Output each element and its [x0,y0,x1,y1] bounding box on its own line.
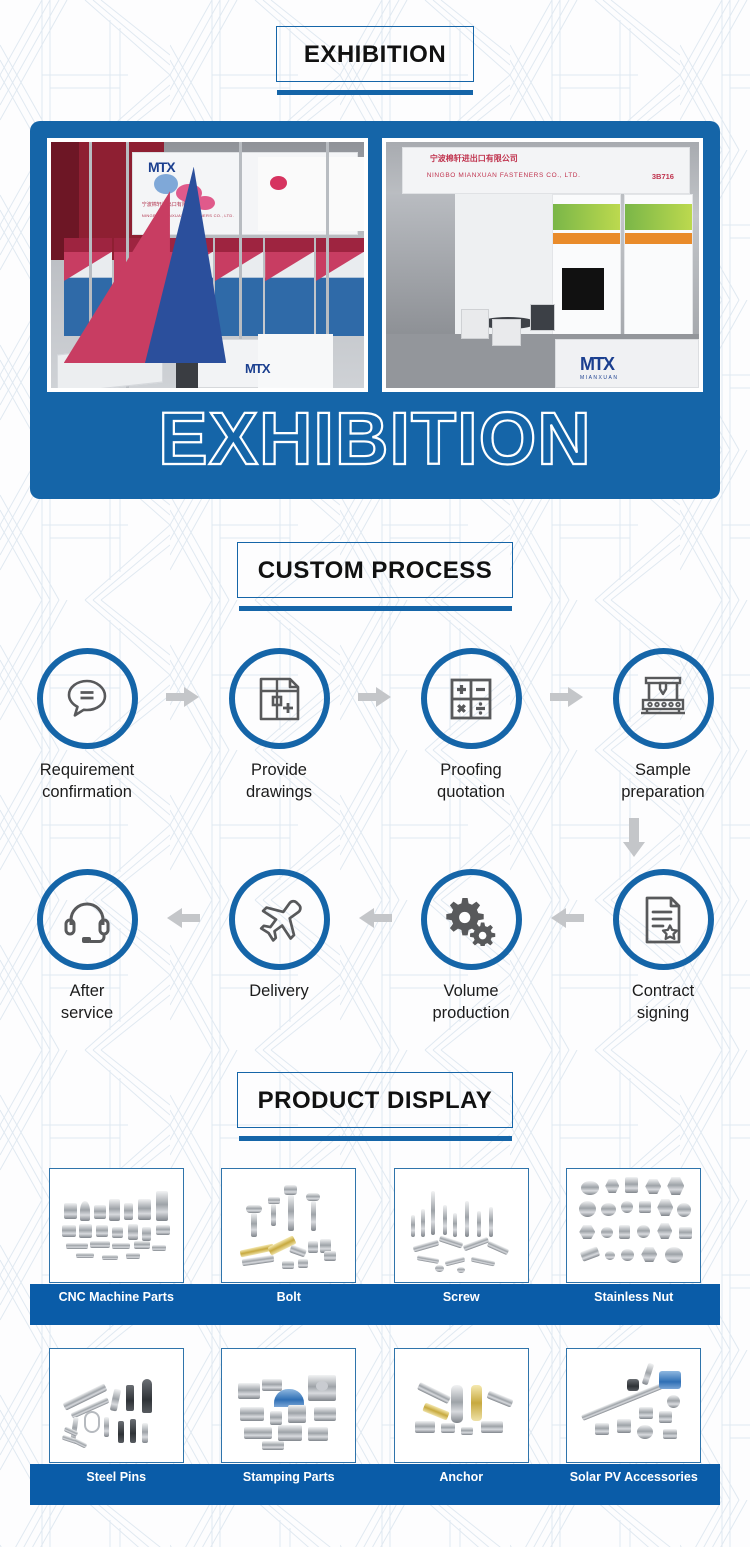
process-label-line2: service [61,1003,113,1025]
gears-icon [443,894,499,946]
photo1-counter-logo: MTX [245,361,269,376]
process-step-circle [37,869,138,970]
custom-process-title-text: CUSTOM PROCESS [258,557,493,585]
process-step-circle [421,648,522,749]
process-label-line1: Requirement [40,760,134,782]
process-step-label: Delivery [249,981,309,1003]
process-step-label: After service [61,981,113,1025]
exhibition-title-box: EXHIBITION [276,26,474,82]
product-label: Stamping Parts [243,1470,335,1484]
process-step-provide-drawings[interactable]: Provide drawings [205,648,353,804]
product-display-title-text: PRODUCT DISPLAY [258,1087,493,1115]
process-flow-row-2: After service Delivery [0,869,750,1025]
product-label: Anchor [439,1470,483,1484]
process-label-line2: confirmation [40,782,134,804]
custom-process-title-box: CUSTOM PROCESS [237,542,513,598]
product-display-title-underline [239,1136,512,1141]
process-label-line2: signing [632,1003,694,1025]
photo2-counter-logo-sub: MIANXUAN [580,375,618,381]
product-label: Screw [443,1290,480,1304]
product-card-screw[interactable]: Screw [375,1168,548,1304]
process-label-line2: preparation [621,782,704,804]
process-arrow-right-2 [353,686,397,708]
product-image [566,1168,701,1283]
product-label: CNC Machine Parts [59,1290,174,1304]
process-step-circle [613,869,714,970]
product-label: Stainless Nut [594,1290,673,1304]
exhibition-photo-2[interactable]: MTX MIANXUAN 宁波棉轩进出口有限公司 NINGBO MIANXUAN… [382,138,703,392]
process-step-circle [613,648,714,749]
product-label: Bolt [277,1290,301,1304]
process-arrow-right-3 [545,686,589,708]
product-card-cnc-machine-parts[interactable]: CNC Machine Parts [30,1168,203,1304]
product-image [394,1168,529,1283]
process-step-circle [421,869,522,970]
process-label-line2: drawings [246,782,312,804]
process-label-line2: production [432,1003,509,1025]
process-step-requirement-confirmation[interactable]: Requirement confirmation [13,648,161,804]
product-detail-page: EXHIBITION MTX 宁波棉轩进出口有限公司 [0,0,750,1547]
process-step-sample-preparation[interactable]: Sample preparation [589,648,737,804]
exhibition-photo-row: MTX 宁波棉轩进出口有限公司 NINGBO MIANXUAN FASTENER… [47,138,703,392]
exhibition-title-underline [277,90,473,95]
photo2-booth-number: 3B716 [652,172,674,181]
process-label-line2: quotation [437,782,505,804]
process-step-label: Contract signing [632,981,694,1025]
process-arrow-left-2 [353,907,397,929]
product-grid-row-1: CNC Machine Parts [30,1168,720,1304]
process-arrow-left-1 [161,907,205,929]
photo2-banner-cn: 宁波棉轩进出口有限公司 [430,153,518,164]
product-image [221,1168,356,1283]
product-image [566,1348,701,1463]
process-label-line1: Volume [432,981,509,1003]
process-step-label: Requirement confirmation [40,760,134,804]
product-image [221,1348,356,1463]
product-card-bolt[interactable]: Bolt [203,1168,376,1304]
process-label-line1: Contract [632,981,694,1003]
photo2-banner-en: NINGBO MIANXUAN FASTENERS CO., LTD. [427,172,581,179]
process-label-line1: Proofing [437,760,505,782]
exhibition-banner-word: EXHIBITION [30,402,720,476]
certificate-icon [639,893,687,947]
product-image [49,1348,184,1463]
exhibition-photo-1[interactable]: MTX 宁波棉轩进出口有限公司 NINGBO MIANXUAN FASTENER… [47,138,368,392]
photo1-logo: MTX [148,159,175,175]
process-arrow-right-1 [161,686,205,708]
chat-bubble-icon [59,671,115,727]
exhibition-section-header: EXHIBITION [0,26,750,95]
product-display-section-header: PRODUCT DISPLAY [0,1072,750,1141]
process-step-delivery[interactable]: Delivery [205,869,353,1003]
airplane-icon [252,893,306,947]
custom-process-section-header: CUSTOM PROCESS [0,542,750,611]
drawing-document-icon [252,672,306,726]
process-step-after-service[interactable]: After service [13,869,161,1025]
exhibition-title-text: EXHIBITION [304,41,446,69]
process-step-label: Proofing quotation [437,760,505,804]
product-card-steel-pins[interactable]: Steel Pins [30,1348,203,1484]
process-step-circle [229,648,330,749]
product-card-stainless-nut[interactable]: Stainless Nut [548,1168,721,1304]
product-label: Solar PV Accessories [570,1470,698,1484]
product-label: Steel Pins [86,1470,146,1484]
process-label-line1: Sample [621,760,704,782]
process-step-contract-signing[interactable]: Contract signing [589,869,737,1025]
process-flow-row-1: Requirement confirmation [0,648,750,804]
headset-icon [60,895,114,945]
product-image [49,1168,184,1283]
process-label-line1: Provide [246,760,312,782]
process-arrow-down [622,818,646,863]
cnc-machine-icon [635,674,691,724]
process-step-proofing-quotation[interactable]: Proofing quotation [397,648,545,804]
product-card-solar-pv-accessories[interactable]: Solar PV Accessories [548,1348,721,1484]
process-step-circle [229,869,330,970]
process-step-volume-production[interactable]: Volume production [397,869,545,1025]
exhibition-banner: MTX 宁波棉轩进出口有限公司 NINGBO MIANXUAN FASTENER… [30,121,720,499]
calculator-icon [445,673,497,725]
product-grid-row-2: Steel Pins [30,1348,720,1484]
product-card-stamping-parts[interactable]: Stamping Parts [203,1348,376,1484]
process-step-label: Provide drawings [246,760,312,804]
process-step-label: Sample preparation [621,760,704,804]
process-arrow-left-3 [545,907,589,929]
process-step-label: Volume production [432,981,509,1025]
photo2-counter-logo: MTX MIANXUAN [580,354,618,381]
product-image [394,1348,529,1463]
custom-process-title-underline [239,606,512,611]
product-card-anchor[interactable]: Anchor [375,1348,548,1484]
product-display-title-box: PRODUCT DISPLAY [237,1072,513,1128]
process-step-circle [37,648,138,749]
process-label-line1: Delivery [249,981,309,1003]
process-label-line1: After [61,981,113,1003]
